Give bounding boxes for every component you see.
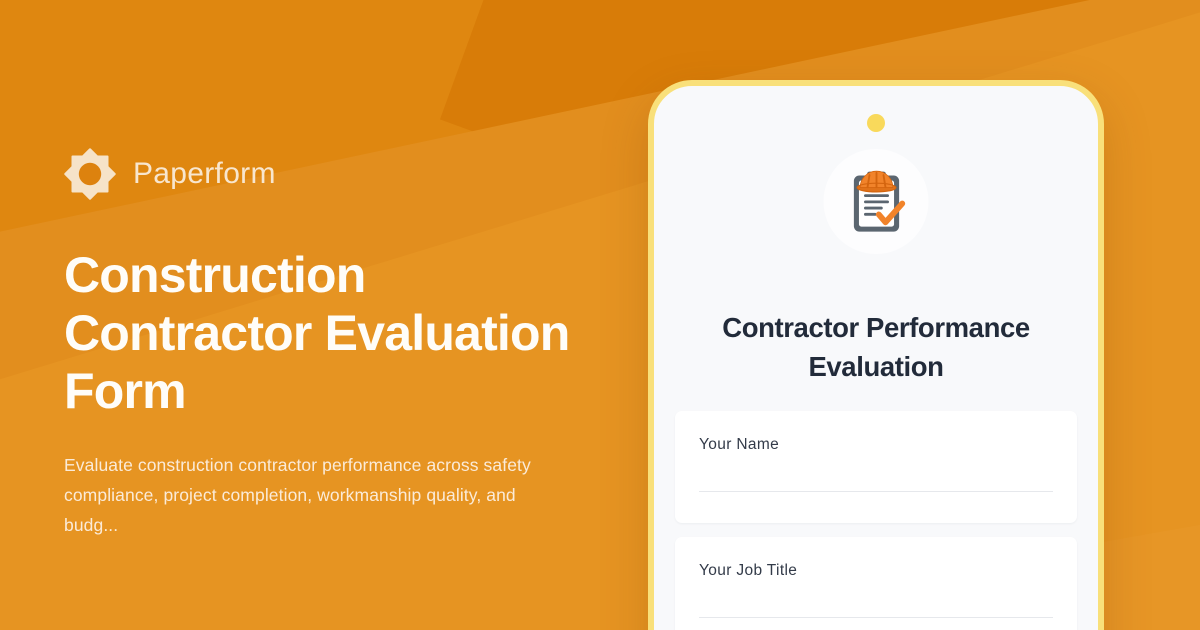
clipboard-hardhat-checkmark-icon [837, 163, 915, 241]
hero-content: Paperform Construction Contractor Evalua… [64, 148, 664, 540]
field-underline [699, 491, 1053, 492]
page-title: Construction Contractor Evaluation Form [64, 246, 624, 420]
field-label: Your Job Title [699, 562, 1053, 580]
form-icon-badge [824, 149, 929, 254]
field-underline [699, 617, 1053, 618]
field-label: Your Name [699, 436, 1053, 454]
phone-mockup: Contractor Performance Evaluation Your N… [648, 80, 1104, 630]
form-fields: Your Name Your Job Title [675, 411, 1077, 630]
form-field-your-name[interactable]: Your Name [675, 411, 1077, 523]
brand-logo: Paperform [64, 148, 664, 200]
camera-dot-icon [867, 114, 885, 132]
form-field-your-job-title[interactable]: Your Job Title [675, 537, 1077, 630]
brand-name: Paperform [133, 159, 276, 189]
paperform-star-logo-icon [64, 148, 116, 200]
form-heading: Contractor Performance Evaluation [684, 308, 1068, 386]
page-description: Evaluate construction contractor perform… [64, 450, 539, 540]
